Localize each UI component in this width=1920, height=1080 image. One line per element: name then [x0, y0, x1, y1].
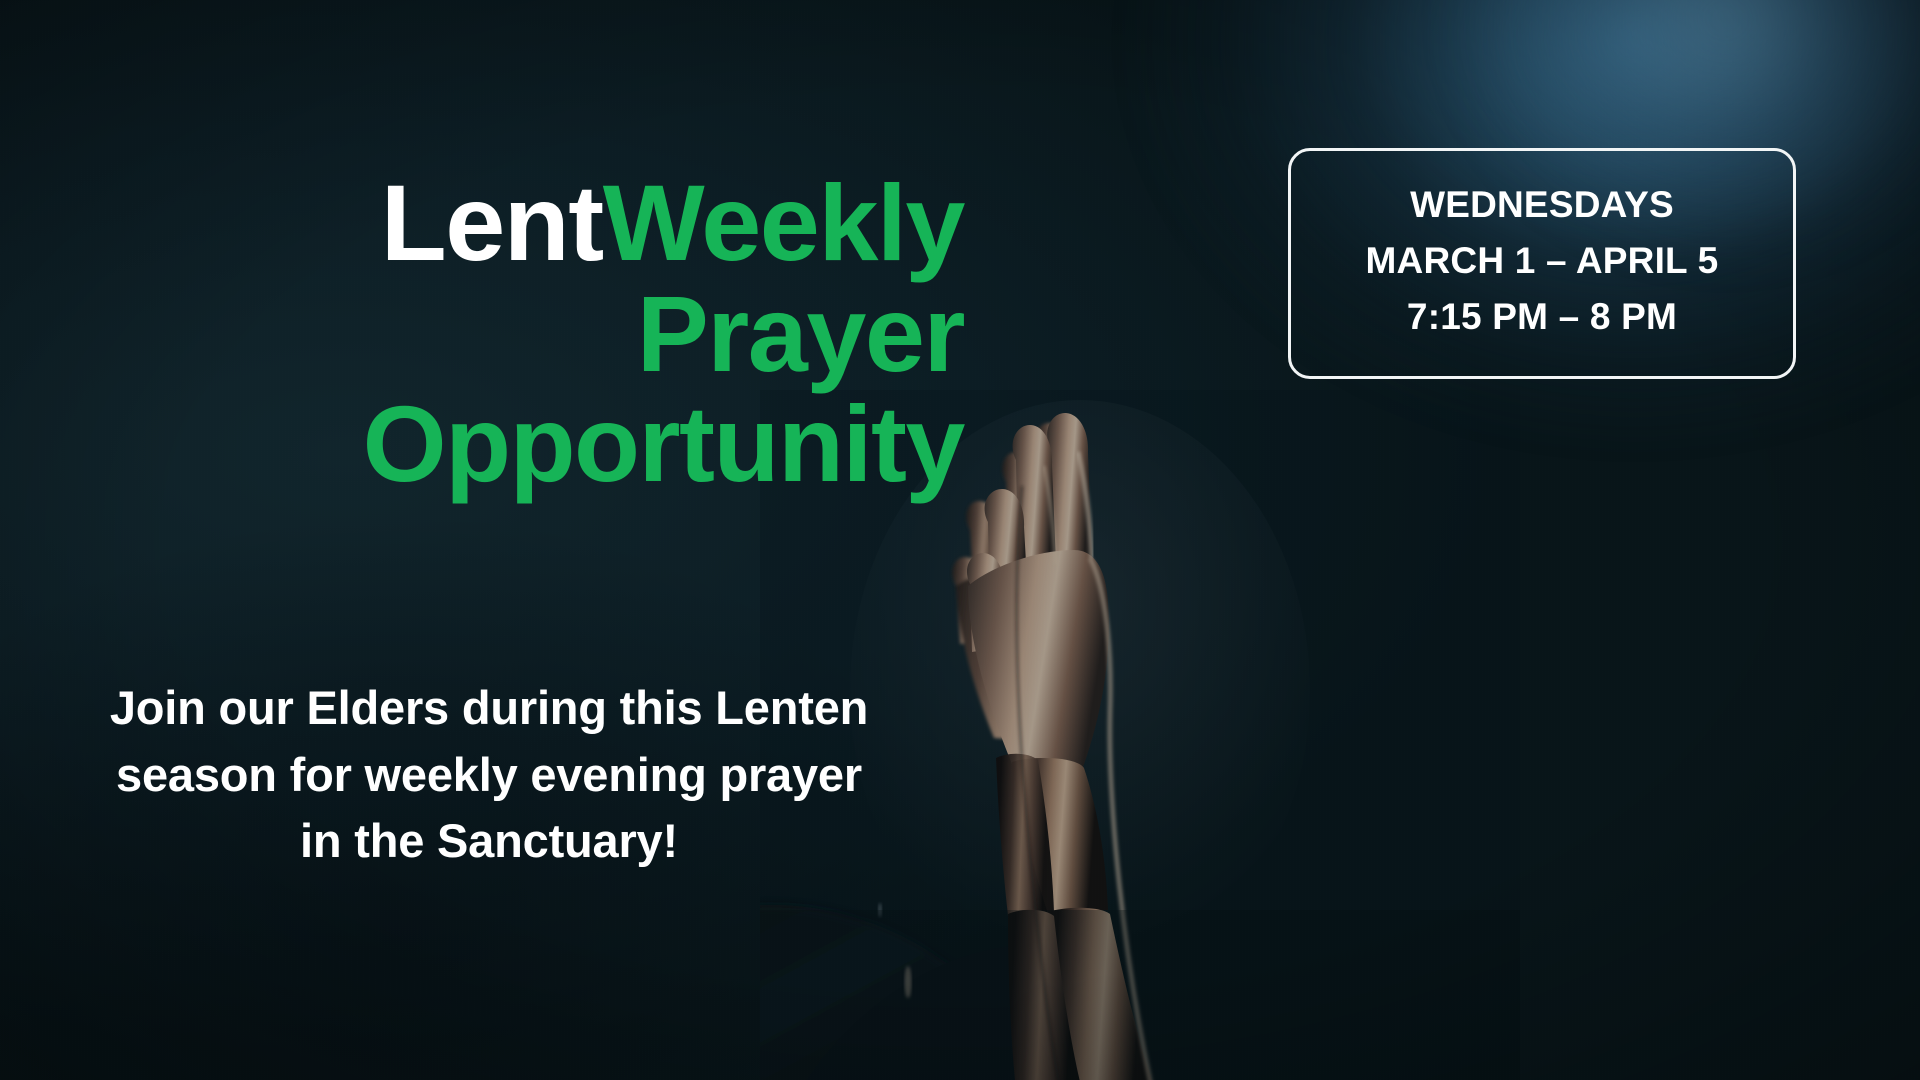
schedule-time-range: 7:15 PM – 8 PM [1307, 289, 1777, 345]
headline-word-prayer: Prayer [637, 273, 964, 394]
schedule-day: WEDNESDAYS [1307, 177, 1777, 233]
headline-word-lent: Lent [381, 162, 603, 283]
headline: LentWeekly Prayer Opportunity [84, 168, 964, 498]
schedule-info-box: WEDNESDAYS MARCH 1 – APRIL 5 7:15 PM – 8… [1288, 148, 1796, 379]
headline-word-opportunity: Opportunity [363, 383, 964, 504]
schedule-date-range: MARCH 1 – APRIL 5 [1307, 233, 1777, 289]
body-paragraph: Join our Elders during this Lenten seaso… [104, 675, 874, 875]
headline-word-weekly: Weekly [603, 162, 964, 283]
poster-canvas: LentWeekly Prayer Opportunity WEDNESDAYS… [0, 0, 1920, 1080]
